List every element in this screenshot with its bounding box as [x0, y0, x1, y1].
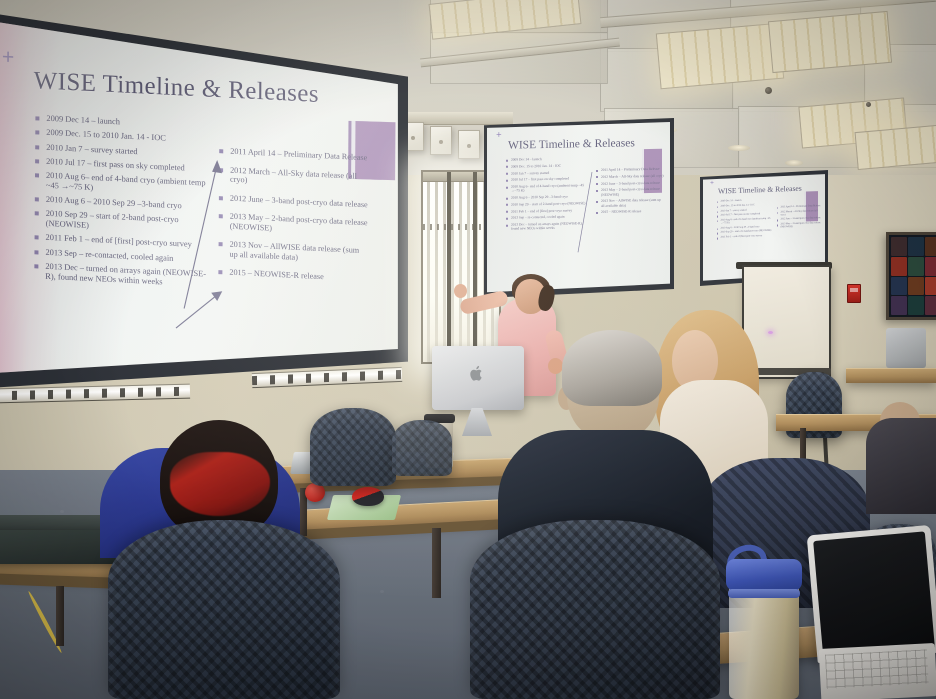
audience-chair[interactable]	[310, 408, 396, 486]
sprinkler-head	[866, 102, 871, 107]
macbook-keyboard-deck[interactable]	[819, 643, 936, 699]
presentation-room-photo: + WISE Timeline & Releases 2009 Dec 14 –…	[0, 0, 936, 699]
ceiling-light-panel	[855, 124, 936, 170]
recessed-downlight	[728, 145, 750, 151]
macbook-keyboard[interactable]	[825, 649, 929, 688]
audience-chair[interactable]	[470, 520, 720, 699]
macbook-screen	[813, 531, 935, 658]
astronomy-image-poster	[886, 232, 936, 320]
fire-alarm-pull-station[interactable]	[847, 284, 861, 303]
slide-left-column: 2009 Dec 14 – launch 2009 Dec. 15 to 201…	[717, 199, 773, 242]
desktop-monitor	[886, 328, 926, 368]
wall-speaker	[458, 130, 480, 159]
apple-logo-icon	[470, 365, 485, 382]
macbook-laptop[interactable]	[807, 525, 936, 663]
attendee-hair	[562, 330, 662, 406]
audience-chair[interactable]	[108, 520, 340, 699]
bottle-collar	[728, 589, 800, 598]
ceiling-light-panel	[656, 23, 784, 90]
bullet: 2010 Aug 6– end of 4-band cryo (ambient …	[717, 218, 773, 226]
audience-chair[interactable]	[392, 420, 452, 476]
bullet: 2013 May – 2-band post-cryo data release…	[777, 222, 821, 229]
slide-2-content: + WISE Timeline & Releases 2009 Dec 14 –…	[492, 123, 668, 286]
table-leg	[432, 528, 441, 598]
laser-pointer-dot	[768, 331, 773, 334]
slide-plus-mark: +	[710, 179, 714, 187]
attendee-torso	[866, 418, 936, 514]
bullet: 2011 Feb 1 – end of [first] post-cryo su…	[717, 235, 773, 240]
wall-speaker	[430, 126, 452, 155]
recessed-downlight	[785, 160, 803, 166]
ceiling-light-panel	[768, 11, 892, 73]
slide-right-column: 2011 April 14 – Preliminary Data Release…	[777, 205, 821, 231]
sprinkler-head	[765, 87, 772, 94]
presenter-hand	[454, 284, 467, 298]
presenter-hand	[548, 358, 563, 374]
computer-mouse[interactable]	[352, 487, 384, 506]
bottle-cap[interactable]	[726, 559, 802, 591]
slide-title: WISE Timeline & Releases	[718, 184, 802, 196]
table-leg	[56, 586, 64, 646]
side-table	[846, 368, 936, 383]
projection-screen-2[interactable]: + WISE Timeline & Releases 2009 Dec 14 –…	[487, 121, 670, 294]
